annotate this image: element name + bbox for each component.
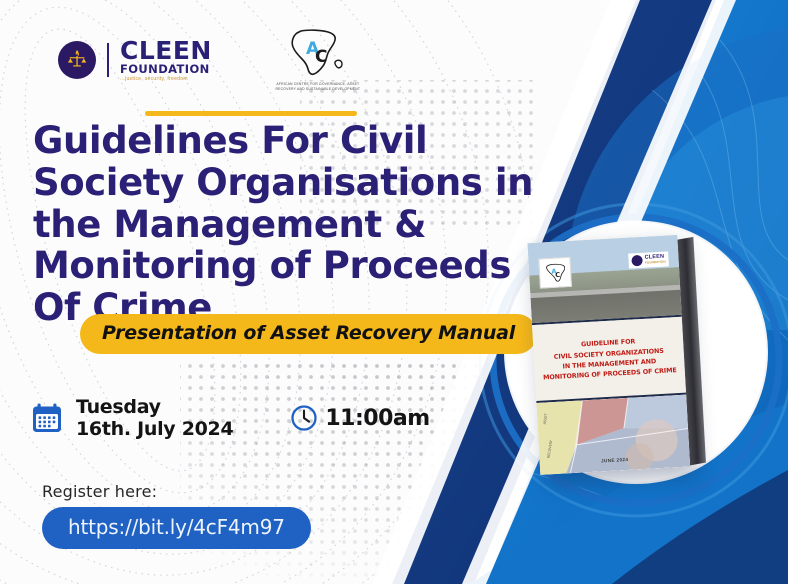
africa-map-icon: A C [281, 28, 355, 80]
page-title: Guidelines For Civil Society Organisatio… [33, 120, 563, 329]
book-cover-chart: ASSET RECOVERY JUNE 2024 [536, 395, 690, 475]
subtitle-banner: Presentation of Asset Recovery Manual [80, 314, 537, 354]
event-flyer: CLEEN FOUNDATION ...justice, security, f… [0, 0, 788, 584]
book-cleen-wordmark: CLEEN FOUNDATION [645, 255, 666, 265]
book-cleen-sub: FOUNDATION [645, 260, 666, 264]
event-time-block: 11:00am [289, 403, 429, 433]
cleen-foundation-logo: CLEEN FOUNDATION ...justice, security, f… [58, 38, 212, 83]
registration-link[interactable]: https://bit.ly/4cF4m97 [42, 507, 311, 549]
svg-text:C: C [315, 47, 327, 67]
register-label: Register here: [42, 482, 311, 501]
event-day: Tuesday [76, 396, 233, 418]
book-cover: A C CLEEN FOUNDATION [527, 235, 690, 475]
acgard-logo: A C AFRICAN CENTRE FOR GOVERNANCE, ASSET… [272, 28, 364, 92]
event-date-text: Tuesday 16th. July 2024 [76, 396, 233, 441]
book-cover-logos: A C CLEEN FOUNDATION [528, 251, 679, 289]
cleen-subtitle: FOUNDATION [120, 64, 212, 76]
accent-rule [145, 111, 357, 116]
registration-block: Register here: https://bit.ly/4cF4m97 [42, 482, 311, 549]
cleen-wordmark: CLEEN FOUNDATION ...justice, security, f… [120, 38, 212, 83]
event-details: Tuesday 16th. July 2024 11:00am [30, 396, 430, 441]
torch-and-scales-icon [58, 41, 96, 79]
book-3d: A C CLEEN FOUNDATION [527, 235, 690, 475]
clock-icon [289, 403, 319, 433]
event-date: 16th. July 2024 [76, 418, 233, 440]
book-title-block: GUIDELINE FOR CIVIL SOCIETY ORGANIZATION… [532, 317, 686, 401]
cleen-name: CLEEN [120, 38, 212, 63]
logo-divider [107, 43, 109, 77]
book-acgard-logo: A C [538, 257, 572, 289]
logo-row: CLEEN FOUNDATION ...justice, security, f… [58, 28, 364, 92]
calendar-icon [30, 401, 64, 435]
book-cleen-mark [632, 255, 644, 267]
book-mockup: A C CLEEN FOUNDATION [527, 233, 720, 483]
acgard-caption: AFRICAN CENTRE FOR GOVERNANCE, ASSET REC… [272, 82, 364, 92]
event-time: 11:00am [325, 406, 429, 431]
svg-text:C: C [555, 271, 560, 279]
book-cleen-logo: CLEEN FOUNDATION [628, 251, 669, 268]
event-date-block: Tuesday 16th. July 2024 [30, 396, 233, 441]
cleen-tagline: ...justice, security, freedom [120, 77, 212, 82]
book-cover-photo: A C CLEEN FOUNDATION [527, 235, 681, 323]
